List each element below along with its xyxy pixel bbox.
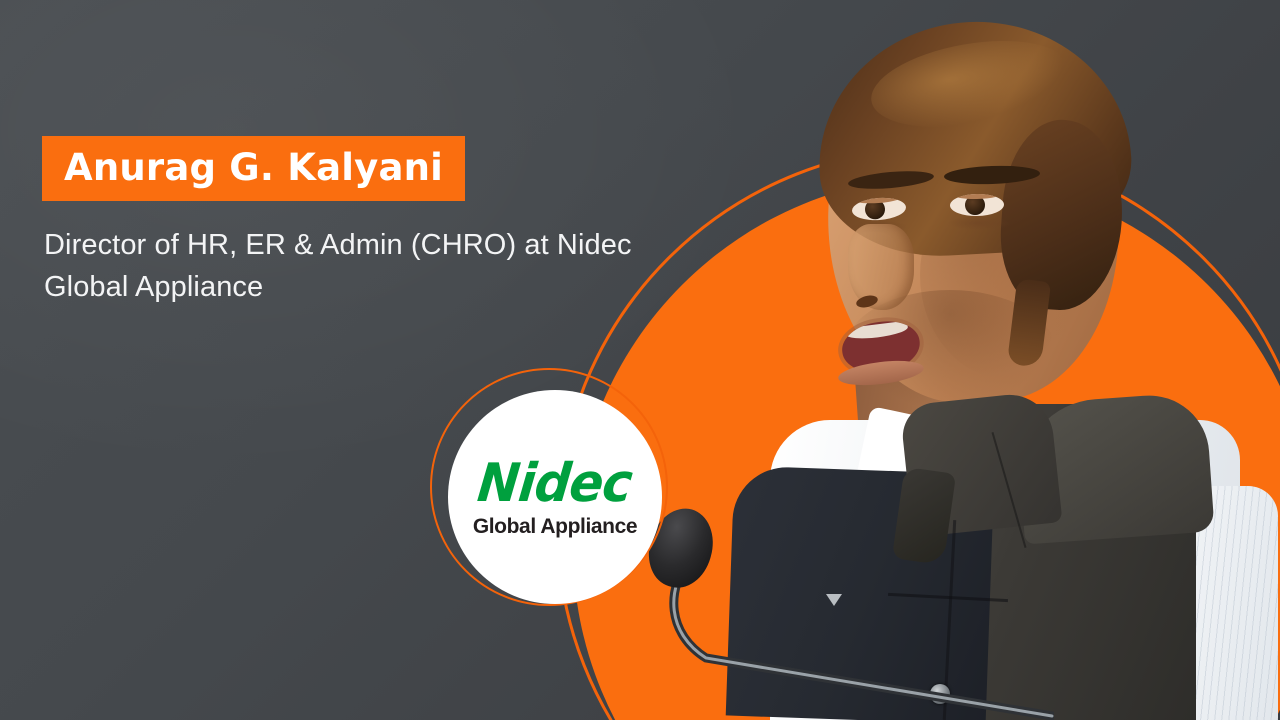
- logo-tagline: Global Appliance: [473, 516, 637, 537]
- under-eye-right: [948, 216, 1010, 230]
- speaker-name-banner: Anurag G. Kalyani: [42, 136, 465, 201]
- speaker-card: Nidec Global Appliance Anurag G. Kalyani…: [0, 0, 1280, 720]
- company-logo: Nidec Global Appliance: [448, 390, 662, 604]
- speaker-photo-inner: [620, 0, 1280, 720]
- logo-wordmark: Nidec: [476, 456, 635, 509]
- speaker-name: Anurag G. Kalyani: [64, 149, 443, 186]
- eyelid-right: [950, 194, 1004, 200]
- nose: [848, 224, 914, 310]
- speaker-title: Director of HR, ER & Admin (CHRO) at Nid…: [44, 224, 644, 308]
- speaker-photo: [620, 0, 1280, 720]
